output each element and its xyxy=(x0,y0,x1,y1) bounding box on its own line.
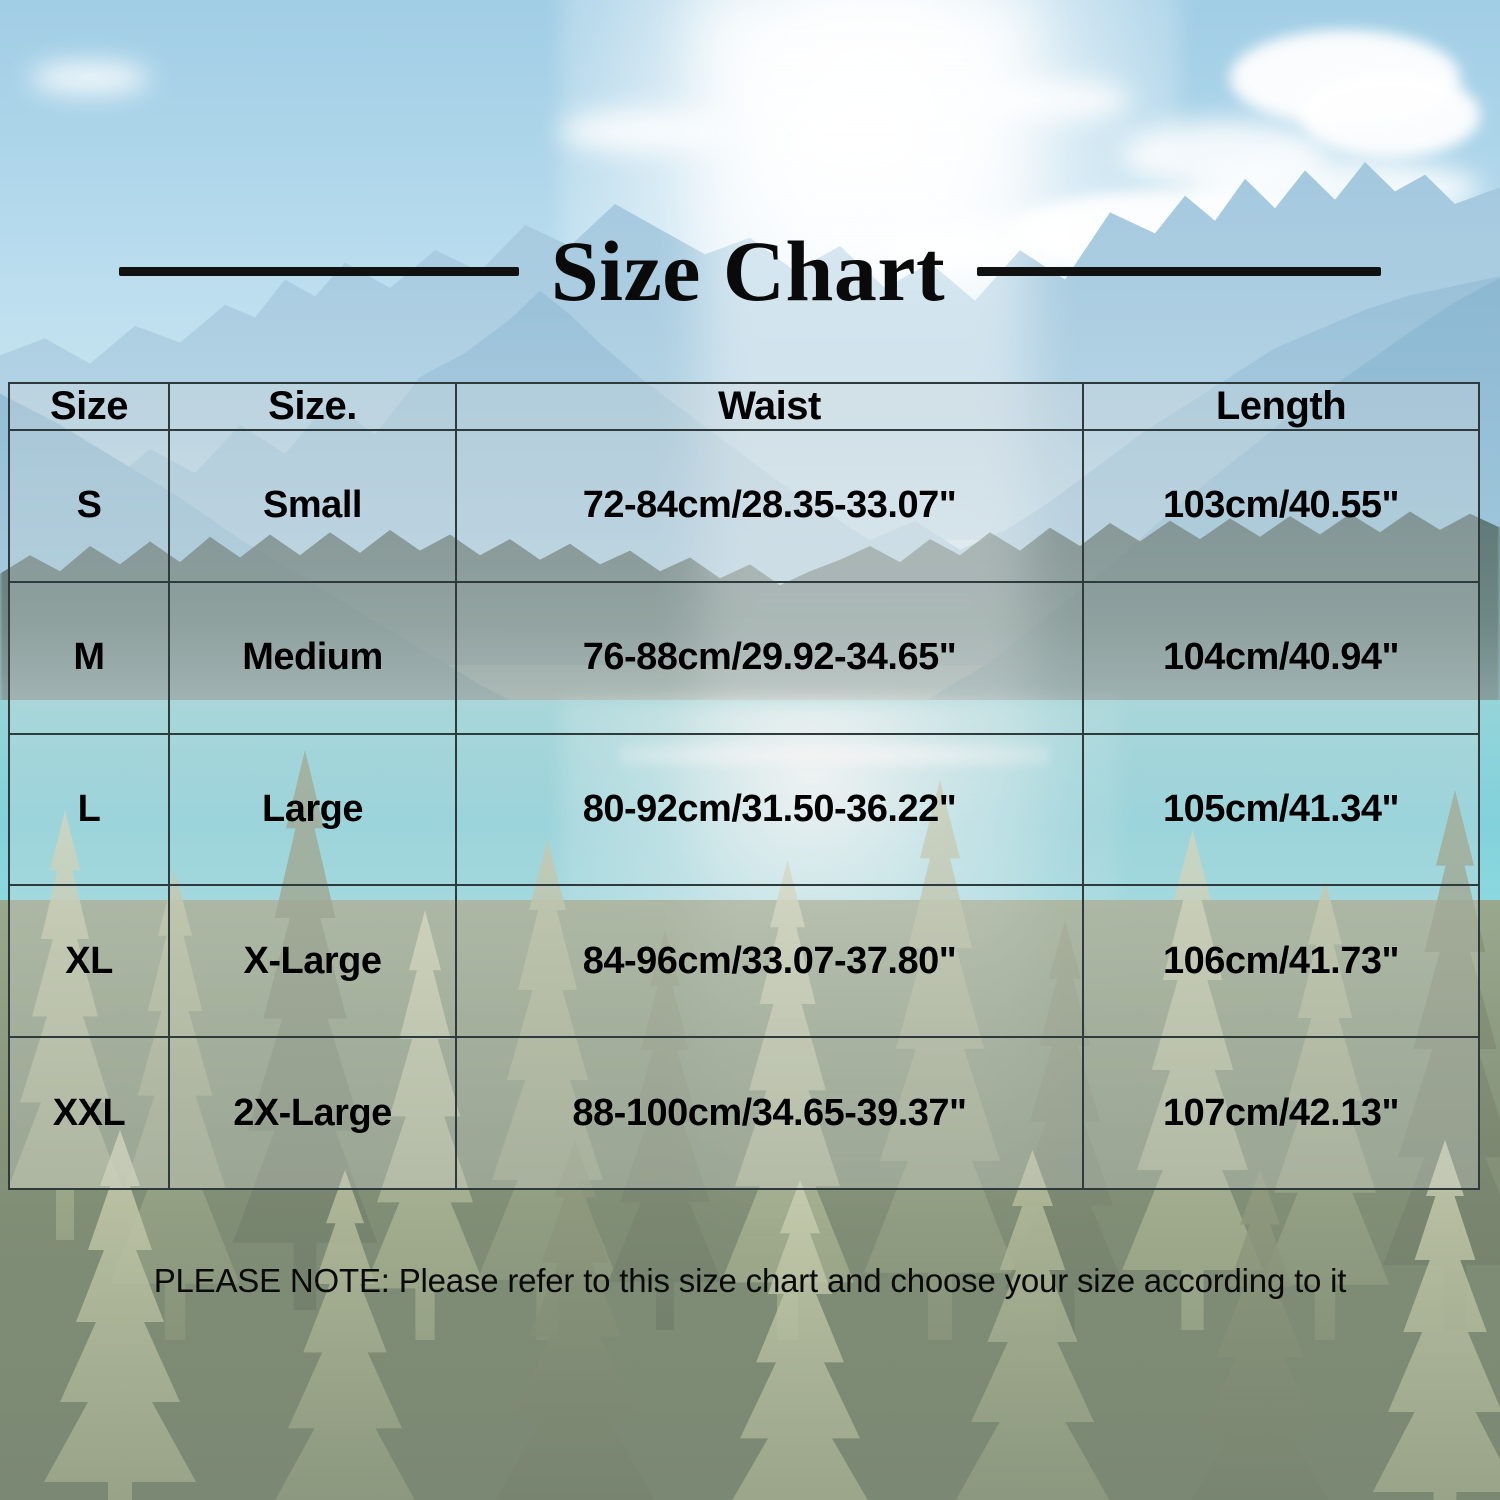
cell-size: XL xyxy=(9,885,169,1037)
table-row: XL X-Large 84-96cm/33.07-37.80" 106cm/41… xyxy=(9,885,1479,1037)
cell-waist: 88-100cm/34.65-39.37" xyxy=(456,1037,1083,1189)
title-rule-right xyxy=(977,267,1381,276)
cell-size: M xyxy=(9,582,169,734)
cloud-shape xyxy=(1300,72,1480,158)
cell-size-name: X-Large xyxy=(169,885,456,1037)
size-chart-page: Size Chart Size Size. Waist Length S Sma… xyxy=(0,0,1500,1500)
cell-size-name: 2X-Large xyxy=(169,1037,456,1189)
cell-waist: 76-88cm/29.92-34.65" xyxy=(456,582,1083,734)
cell-length: 107cm/42.13" xyxy=(1083,1037,1479,1189)
table-row: XXL 2X-Large 88-100cm/34.65-39.37" 107cm… xyxy=(9,1037,1479,1189)
column-header-waist: Waist xyxy=(456,383,1083,430)
cell-length: 104cm/40.94" xyxy=(1083,582,1479,734)
cell-length: 105cm/41.34" xyxy=(1083,734,1479,886)
cell-length: 103cm/40.55" xyxy=(1083,430,1479,582)
cell-length: 106cm/41.73" xyxy=(1083,885,1479,1037)
cell-size: L xyxy=(9,734,169,886)
cell-waist: 80-92cm/31.50-36.22" xyxy=(456,734,1083,886)
table-row: M Medium 76-88cm/29.92-34.65" 104cm/40.9… xyxy=(9,582,1479,734)
cloud-shape xyxy=(30,62,150,94)
cell-size: S xyxy=(9,430,169,582)
cell-size-name: Medium xyxy=(169,582,456,734)
cell-size: XXL xyxy=(9,1037,169,1189)
cell-waist: 72-84cm/28.35-33.07" xyxy=(456,430,1083,582)
page-title: Size Chart xyxy=(551,228,945,314)
size-chart-table-wrap: Size Size. Waist Length S Small 72-84cm/… xyxy=(8,382,1478,1190)
column-header-length: Length xyxy=(1083,383,1479,430)
page-title-row: Size Chart xyxy=(0,212,1500,330)
column-header-size-name: Size. xyxy=(169,383,456,430)
column-header-size: Size xyxy=(9,383,169,430)
please-note-text: PLEASE NOTE: Please refer to this size c… xyxy=(0,1262,1500,1300)
cell-size-name: Small xyxy=(169,430,456,582)
table-row: L Large 80-92cm/31.50-36.22" 105cm/41.34… xyxy=(9,734,1479,886)
table-row: S Small 72-84cm/28.35-33.07" 103cm/40.55… xyxy=(9,430,1479,582)
table-header-row: Size Size. Waist Length xyxy=(9,383,1479,430)
title-rule-left xyxy=(119,267,519,276)
cell-size-name: Large xyxy=(169,734,456,886)
cell-waist: 84-96cm/33.07-37.80" xyxy=(456,885,1083,1037)
size-chart-table: Size Size. Waist Length S Small 72-84cm/… xyxy=(8,382,1480,1190)
